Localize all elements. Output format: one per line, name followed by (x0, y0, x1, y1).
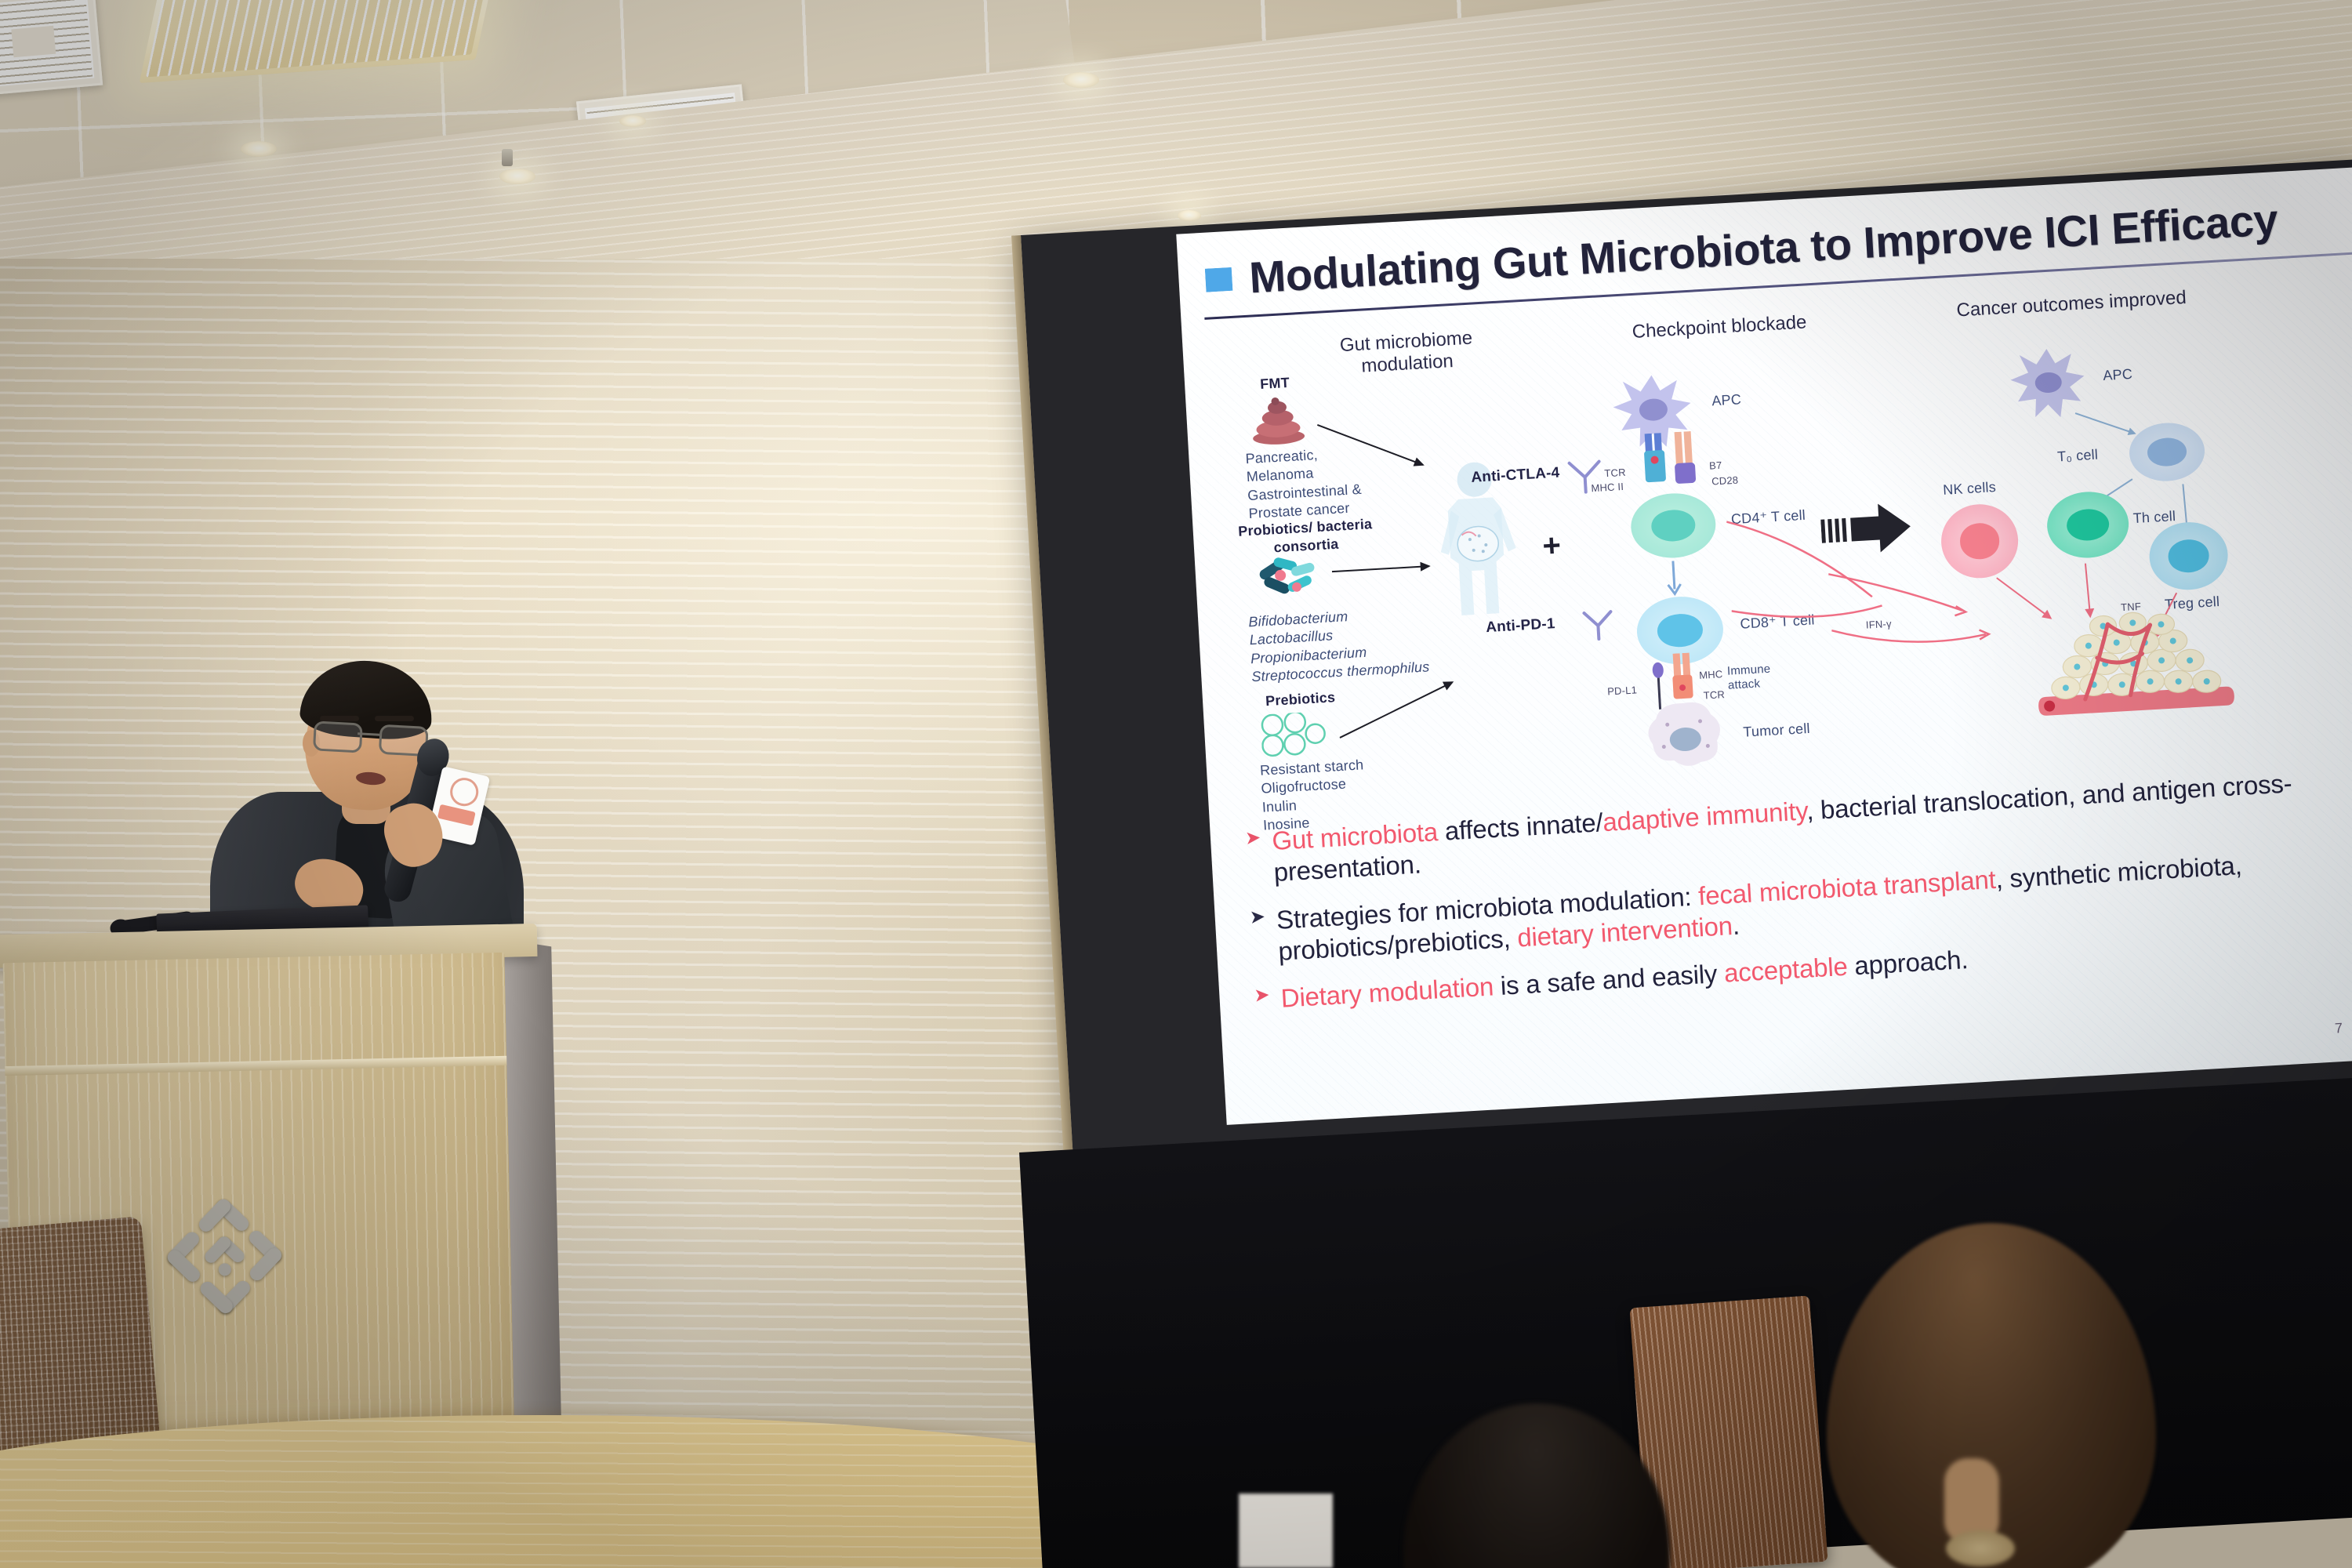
arrow-th-to-tumor (2085, 564, 2091, 617)
presentation-photo: Modulating Gut Microbiota to Improve ICI… (0, 0, 2352, 1568)
bullet-run-2-1: is a safe and easily (1493, 959, 1725, 1001)
speaker-eyebrow-left (320, 716, 359, 721)
downlight-1 (241, 141, 277, 157)
presentation-slide: Modulating Gut Microbiota to Improve ICI… (1176, 167, 2352, 1125)
bullet-marker-2: ➤ (1254, 984, 1271, 1016)
t0-cell-label: T₀ cell (2057, 446, 2099, 466)
antibody-pd1-icon (1579, 608, 1618, 644)
apc-label-checkpoint: APC (1711, 390, 1742, 410)
treg-cell-icon (2147, 520, 2230, 592)
figure-heading-modulation: Gut microbiome modulation (1323, 326, 1490, 379)
th-cell-label: Th cell (2132, 507, 2176, 528)
tumor-mass-icon (2026, 603, 2245, 756)
projection-screen: Modulating Gut Microbiota to Improve ICI… (1021, 160, 2352, 1221)
speaker-eyeglasses-icon (313, 720, 423, 751)
figure-heading-outcomes: Cancer outcomes improved (1942, 286, 2201, 322)
plus-sign: + (1541, 528, 1562, 564)
figure-heading-checkpoint: Checkpoint blockade (1613, 310, 1826, 344)
slide-page-number: 7 (2334, 1020, 2343, 1037)
arrow-cd4-to-cd8-icon (1664, 561, 1684, 599)
apc-label-outcome: APC (2103, 365, 2133, 385)
probiotics-label: Probiotics/ bacteria consortia (1230, 515, 1381, 560)
ceiling-air-vent-left (0, 0, 103, 96)
pathway-figure: Gut microbiome modulation Checkpoint blo… (1214, 278, 2352, 819)
downlight-2 (499, 169, 535, 184)
tumor-cell-icon (1642, 699, 1727, 768)
bullet-run-2-0: Dietary modulation (1280, 971, 1494, 1012)
bullet-marker-1: ➤ (1249, 905, 1269, 969)
b7-label: B7 (1709, 459, 1722, 474)
nk-cells-label: NK cells (1943, 478, 1997, 499)
hair-tie (1946, 1530, 2015, 1566)
bullet-run-0-1: affects innate/ (1437, 808, 1604, 846)
arrow-prebiotics-to-body (1340, 681, 1453, 739)
fmt-items: Pancreatic, Melanoma Gastrointestinal & … (1245, 444, 1363, 524)
pdl1-label: PD-L1 (1607, 684, 1638, 699)
sprinkler-head (502, 149, 513, 166)
probiotics-items: Bifidobacterium Lactobacillus Propioniba… (1248, 603, 1430, 686)
anti-ctla4-label: Anti-CTLA-4 (1471, 464, 1560, 488)
checkpoint-to-outcome-curves (1726, 510, 1892, 675)
bullet-run-2-2: acceptable (1723, 952, 1848, 988)
chair-left (0, 1216, 162, 1465)
fmt-label: FMT (1260, 374, 1290, 394)
speaker-eyebrow-right (375, 716, 414, 721)
stool-icon (1248, 394, 1308, 447)
arrow-probiotics-to-body (1332, 565, 1429, 572)
bullet-run-2-3: approach. (1846, 945, 1969, 981)
cd28-label: CD28 (1711, 474, 1739, 489)
podium-trim-band (5, 1056, 506, 1076)
tcr-label: TCR (1604, 466, 1626, 481)
downlight-3 (619, 115, 646, 127)
bullet-run-1-1: fecal microbiota transplant (1697, 864, 1996, 909)
receptor-complex-icon (1634, 430, 1707, 503)
bullet-run-0-2: adaptive immunity (1602, 796, 1807, 837)
tumor-cell-label: Tumor cell (1743, 720, 1811, 742)
anti-pd1-label: Anti-PD-1 (1486, 615, 1556, 638)
foreground-paper-edge (1239, 1494, 1333, 1568)
arrow-apc-to-t0 (2075, 412, 2135, 434)
prebiotics-label: Prebiotics (1265, 688, 1336, 710)
molecule-icon (1260, 711, 1328, 759)
bullet-marker-0: ➤ (1244, 826, 1264, 891)
bacteria-icon (1254, 554, 1324, 605)
downlight-4 (1063, 72, 1099, 88)
downlight-5 (1178, 210, 1201, 221)
th-cell-icon (2045, 490, 2131, 561)
institution-knot-logo-icon (158, 1190, 292, 1323)
mhc2-label: MHC II (1591, 481, 1624, 495)
bullet-run-1-4: . (1732, 910, 1740, 939)
blue-square-bullet-icon (1205, 267, 1233, 292)
t0-cell-icon (2128, 421, 2206, 483)
mhc-label: MHC (1699, 668, 1723, 683)
